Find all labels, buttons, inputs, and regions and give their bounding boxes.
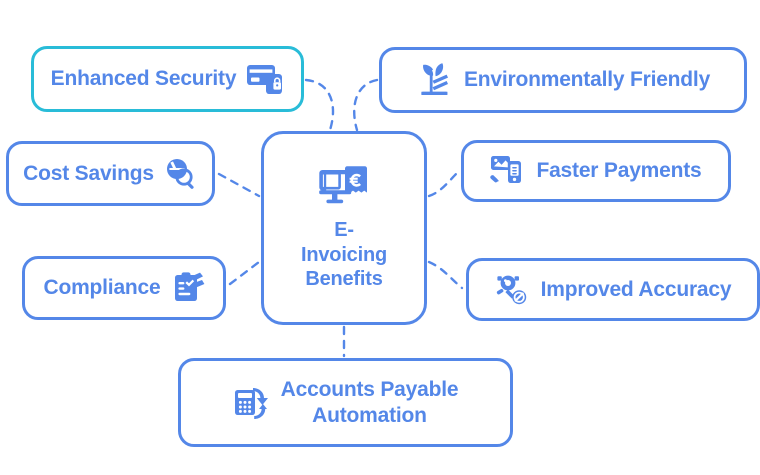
center-node-label: E- Invoicing Benefits (301, 218, 387, 291)
node-faster-payments[interactable]: Faster Payments (461, 140, 731, 202)
node-enhanced-security[interactable]: Enhanced Security (31, 46, 304, 112)
node-label-faster-payments: Faster Payments (536, 159, 701, 183)
monitor-euro-invoice-icon (318, 164, 370, 212)
node-environmentally-friendly[interactable]: Environmentally Friendly (379, 47, 747, 113)
node-label-accounts-payable-automation: Accounts Payable Automation (281, 377, 459, 427)
target-check-icon (495, 273, 531, 307)
connector-faster-payments (429, 172, 458, 196)
node-label-environmentally-friendly: Environmentally Friendly (464, 68, 710, 92)
node-improved-accuracy[interactable]: Improved Accuracy (466, 258, 760, 321)
connector-compliance (230, 262, 259, 284)
node-cost-savings[interactable]: Cost Savings (6, 141, 215, 206)
credit-card-lock-icon (246, 62, 284, 96)
node-label-improved-accuracy: Improved Accuracy (541, 278, 732, 302)
connector-environmentally-friendly (354, 80, 377, 130)
diagram-canvas: E- Invoicing Benefits Enhanced Security (0, 0, 760, 475)
connector-improved-accuracy (429, 262, 462, 288)
node-compliance[interactable]: Compliance (22, 256, 226, 320)
checklist-clipboard-icon (171, 271, 205, 305)
node-label-enhanced-security: Enhanced Security (51, 67, 237, 91)
sprout-leaf-icon (416, 62, 454, 98)
node-accounts-payable-automation[interactable]: Accounts Payable Automation (178, 358, 513, 447)
coin-magnifier-icon (164, 157, 198, 191)
node-label-cost-savings: Cost Savings (23, 162, 154, 186)
connector-cost-savings (219, 174, 259, 196)
center-node-e-invoicing-benefits[interactable]: E- Invoicing Benefits (261, 131, 427, 325)
mobile-payment-transfer-icon (490, 153, 526, 189)
calculator-refresh-icon (233, 384, 271, 422)
connector-enhanced-security (306, 80, 333, 130)
node-label-compliance: Compliance (43, 276, 160, 300)
